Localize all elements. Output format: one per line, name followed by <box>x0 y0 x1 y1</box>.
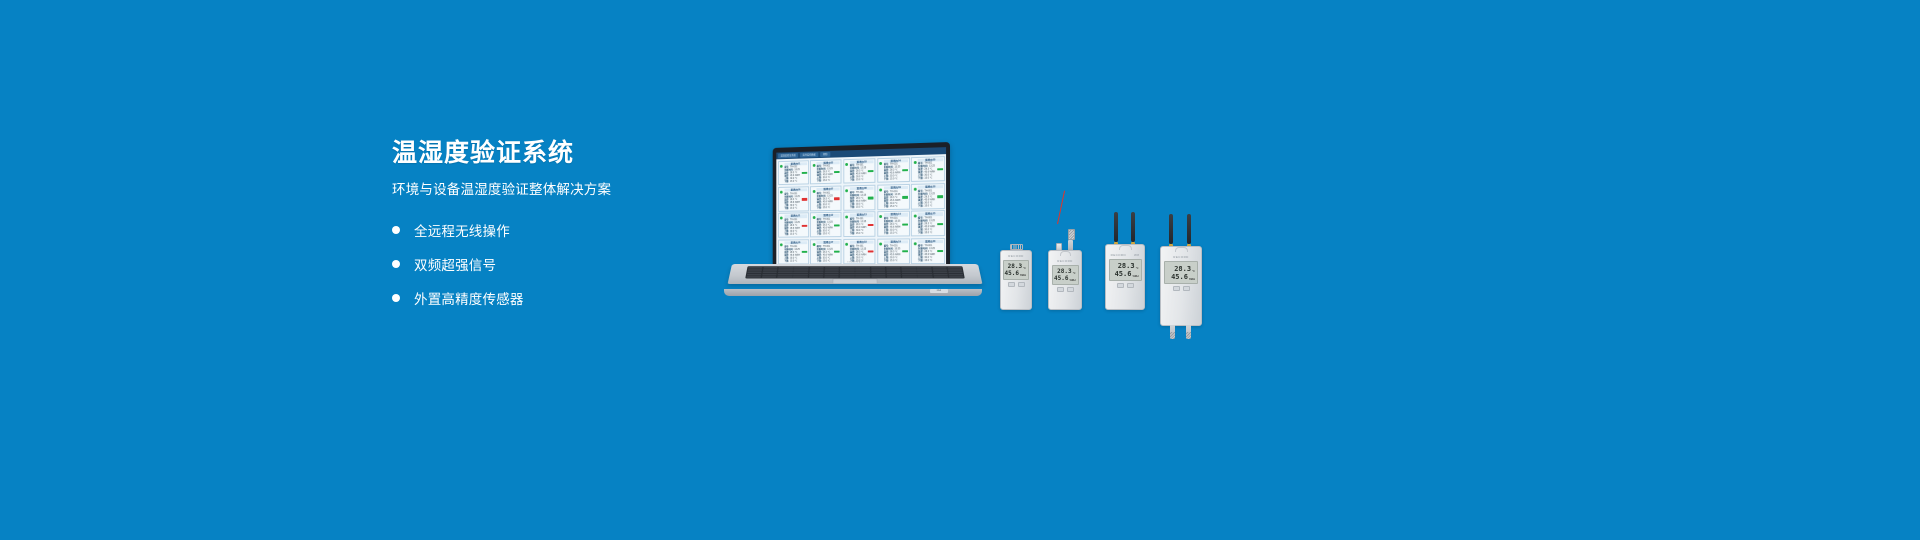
laptop-lid: 温湿度验证系统 实时监控数据 帮助 监测点01编号:TH-001采集时间:13:… <box>773 142 950 274</box>
toolbar-button-monitor[interactable]: 实时监控数据 <box>800 152 818 157</box>
sensor-card-row-value: 15.0 ℃ <box>823 232 840 235</box>
sensor-card-row-key: 下限: <box>784 259 789 262</box>
sensor-card-row: 下限:15.0 ℃ <box>850 205 874 208</box>
device-2-lcd: 28.3 ℃ 45.6 %RH <box>1052 265 1079 285</box>
external-sensor-probe-2 <box>1186 325 1191 339</box>
sensor-card-row-value: 15.0 ℃ <box>856 178 874 181</box>
sensor-card-row: 下限:15.0 ℃ <box>784 233 807 236</box>
device-1-hum-unit: %RH <box>1020 274 1026 277</box>
status-dot-icon <box>914 160 917 163</box>
status-dot-icon <box>780 164 783 167</box>
sensor-card-row: 下限:15.0 ℃ <box>918 231 943 234</box>
sensor-card-row-value: 15.0 ℃ <box>823 179 840 182</box>
sensor-card-row: 下限:15.0 ℃ <box>884 177 908 181</box>
device-3-hum-unit: %RH <box>1132 275 1138 278</box>
device-2-hum-unit: %RH <box>1069 279 1075 282</box>
sensor-card-body: 监测点11编号:TH-001采集时间:13:25温度:28.3 ℃湿度:45.6… <box>784 215 807 236</box>
feature-label: 全远程无线操作 <box>414 220 510 240</box>
device-3-humidity: 45.6 <box>1115 270 1132 278</box>
device-wireless-logger: RECORD W8 28.3 ℃ 45.6 %RH <box>1105 244 1145 310</box>
sensor-card[interactable]: 监测点09编号:TH-001采集时间:13:25温度:28.3 ℃湿度:45.6… <box>877 184 910 210</box>
sensor-card-body: 监测点08编号:TH-001采集时间:13:25温度:28.3 ℃湿度:45.6… <box>850 187 874 209</box>
keyboard-key[interactable] <box>871 276 886 278</box>
sensor-card-body: 监测点07编号:TH-001采集时间:13:25温度:28.3 ℃湿度:45.6… <box>817 187 840 209</box>
sensor-card-row-key: 下限: <box>784 180 789 183</box>
probe-wire <box>1057 191 1065 225</box>
sensor-card-row: 下限:15.0 ℃ <box>784 259 807 262</box>
keyboard-key[interactable] <box>809 276 824 278</box>
hero-copy: 温湿度验证系统 环境与设备温湿度验证整体解决方案 全远程无线操作 双频超强信号 … <box>392 140 722 322</box>
device-2-humidity: 45.6 <box>1054 275 1068 282</box>
status-dot-icon <box>879 242 882 245</box>
keyboard-key[interactable] <box>902 276 917 278</box>
sensor-card[interactable]: 监测点12编号:TH-001采集时间:13:25温度:28.3 ℃湿度:45.6… <box>810 212 842 237</box>
sensor-card[interactable]: 监测点13编号:TH-001采集时间:13:25温度:28.3 ℃湿度:45.6… <box>843 212 875 238</box>
sensor-card-row-value: 15.0 ℃ <box>823 259 840 262</box>
laptop-product-image: 温湿度验证系统 实时监控数据 帮助 监测点01编号:TH-001采集时间:13:… <box>722 142 984 298</box>
sensor-card-body: 监测点09编号:TH-001采集时间:13:25温度:28.3 ℃湿度:45.6… <box>884 186 908 208</box>
sensor-card[interactable]: 监测点02编号:TH-001采集时间:13:25温度:28.3 ℃湿度:45.6… <box>810 159 842 185</box>
device-2-temperature: 28.3 <box>1057 268 1071 275</box>
keyboard-key[interactable] <box>777 276 792 278</box>
sensor-card-row: 下限:15.0 ℃ <box>817 206 840 209</box>
keyboard-key[interactable] <box>918 276 933 278</box>
status-dot-icon <box>812 243 815 246</box>
feature-item-1: 全远程无线操作 <box>392 220 722 240</box>
antenna-icon-3 <box>1169 214 1173 244</box>
page-title: 温湿度验证系统 <box>392 140 722 168</box>
sensor-card-row-value: 15.0 ℃ <box>790 180 807 183</box>
sensor-card-row-value: 15.0 ℃ <box>856 205 874 208</box>
sensor-card-row-key: 下限: <box>850 179 855 182</box>
feature-item-3: 外置高精度传感器 <box>392 288 722 308</box>
keyboard-key[interactable] <box>887 276 902 278</box>
sensor-card-row-value: 15.0 ℃ <box>856 232 874 235</box>
status-dot-icon <box>879 215 882 218</box>
sensor-card[interactable]: 监测点15编号:TH-001采集时间:13:25温度:28.3 ℃湿度:45.6… <box>911 210 944 236</box>
device-3-button-left[interactable] <box>1117 283 1124 288</box>
status-dot-icon <box>780 243 783 246</box>
sensor-card-row-key: 下限: <box>817 180 822 183</box>
sensor-card-body: 监测点19编号:TH-001采集时间:13:25温度:28.3 ℃湿度:45.6… <box>884 240 908 262</box>
sensor-card-body: 监测点06编号:TH-001采集时间:13:25温度:28.3 ℃湿度:45.6… <box>784 188 807 209</box>
sensor-mesh-icon-2 <box>1186 332 1191 339</box>
sensor-card-body: 监测点14编号:TH-001采集时间:13:25温度:28.3 ℃湿度:45.6… <box>884 213 908 235</box>
keyboard-key[interactable] <box>793 276 808 278</box>
laptop-base: HUAWEI intel <box>722 264 984 298</box>
device-4-body: RECORD 28.3 ℃ 45.6 %RH <box>1160 246 1202 326</box>
laptop-keyboard[interactable] <box>745 266 964 278</box>
laptop-front-edge: intel <box>724 289 982 296</box>
sensor-card-row: 下限:15.0 ℃ <box>918 259 943 262</box>
sensor-card[interactable]: 监测点06编号:TH-001采集时间:13:25温度:28.3 ℃湿度:45.6… <box>778 186 809 211</box>
sensor-card-row-key: 下限: <box>817 206 822 209</box>
device-1-temperature: 28.3 <box>1008 263 1022 270</box>
sensor-card[interactable]: 监测点08编号:TH-001采集时间:13:25温度:28.3 ℃湿度:45.6… <box>843 185 875 211</box>
device-4-lcd: 28.3 ℃ 45.6 %RH <box>1164 261 1198 284</box>
status-dot-icon <box>846 243 849 246</box>
sensor-card-row-value: 15.0 ℃ <box>924 177 942 180</box>
sensor-card-body: 监测点20编号:TH-001采集时间:13:25温度:28.3 ℃湿度:45.6… <box>918 240 943 262</box>
sensor-card[interactable]: 监测点11编号:TH-001采集时间:13:25温度:28.3 ℃湿度:45.6… <box>778 213 809 238</box>
sensor-card-body: 监测点01编号:TH-001采集时间:13:25温度:28.3 ℃湿度:45.6… <box>784 162 807 184</box>
hero-banner: 温湿度验证系统 环境与设备温湿度验证整体解决方案 全远程无线操作 双频超强信号 … <box>0 0 1920 540</box>
sensor-card-body: 监测点02编号:TH-001采集时间:13:25温度:28.3 ℃湿度:45.6… <box>817 161 840 183</box>
sensor-card-body: 监测点17编号:TH-001采集时间:13:25温度:28.3 ℃湿度:45.6… <box>817 241 840 262</box>
status-dot-icon <box>812 163 815 166</box>
sensor-card-row: 下限:15.0 ℃ <box>817 259 840 262</box>
status-dot-icon <box>879 188 882 191</box>
device-1-button-left[interactable] <box>1008 282 1015 287</box>
sensor-card[interactable]: 监测点05编号:TH-001采集时间:13:25温度:28.3 ℃湿度:45.6… <box>911 156 944 183</box>
sensor-card-row-value: 15.0 ℃ <box>890 205 908 208</box>
sensor-card-body: 监测点12编号:TH-001采集时间:13:25温度:28.3 ℃湿度:45.6… <box>817 214 840 236</box>
sensor-card-row-value: 15.0 ℃ <box>890 177 908 180</box>
device-3-model: W8 <box>1134 253 1139 257</box>
keyboard-key[interactable] <box>855 276 870 278</box>
sensor-card-row-value: 15.0 ℃ <box>790 233 807 236</box>
sensor-card-row-key: 下限: <box>918 259 923 262</box>
keyboard-row <box>746 276 964 278</box>
device-3-button-right[interactable] <box>1127 283 1134 288</box>
bullet-dot-icon <box>392 226 400 234</box>
device-4-button-left[interactable] <box>1173 286 1180 291</box>
hanging-hook-icon <box>1175 247 1188 252</box>
feature-list: 全远程无线操作 双频超强信号 外置高精度传感器 <box>392 220 722 308</box>
status-dot-icon <box>812 216 815 219</box>
bullet-dot-icon <box>392 294 400 302</box>
keyboard-key[interactable] <box>933 276 948 278</box>
antenna-icon-4 <box>1187 214 1191 244</box>
sensor-card[interactable]: 监测点10编号:TH-001采集时间:13:25温度:28.3 ℃湿度:45.6… <box>911 183 944 209</box>
sensor-card-row-key: 下限: <box>884 205 889 208</box>
sensor-card-row-value: 15.0 ℃ <box>890 259 908 262</box>
device-probe-logger: RECORD 28.3 ℃ 45.6 %RH <box>1048 250 1082 310</box>
device-2-body: RECORD 28.3 ℃ 45.6 %RH <box>1048 250 1082 310</box>
device-4-brand: RECORD <box>1173 255 1188 259</box>
page-subtitle: 环境与设备温湿度验证整体解决方案 <box>392 182 722 198</box>
status-dot-icon <box>812 190 815 193</box>
device-1-buttons[interactable] <box>1008 282 1025 287</box>
status-dot-icon <box>914 188 917 191</box>
sensor-mesh-icon-1 <box>1170 332 1175 339</box>
device-compact-logger: RECORD 28.3 ℃ 45.6 %RH <box>1000 244 1032 310</box>
sensor-card-row: 下限:15.0 ℃ <box>850 178 874 182</box>
sensor-card-row: 下限:15.0 ℃ <box>817 179 840 182</box>
sensor-card-row-key: 下限: <box>884 178 889 181</box>
sensor-card[interactable]: 监测点01编号:TH-001采集时间:13:25温度:28.3 ℃湿度:45.6… <box>778 160 809 186</box>
sensor-card-body: 监测点03编号:TH-001采集时间:13:25温度:28.3 ℃湿度:45.6… <box>850 160 874 182</box>
device-1-lcd: 28.3 ℃ 45.6 %RH <box>1003 260 1029 280</box>
sensor-card-grid: 监测点01编号:TH-001采集时间:13:25温度:28.3 ℃湿度:45.6… <box>776 154 946 265</box>
sensor-card-row-key: 下限: <box>918 232 923 235</box>
device-4-button-right[interactable] <box>1183 286 1190 291</box>
sensor-card-row-key: 下限: <box>817 259 822 262</box>
bullet-dot-icon <box>392 260 400 268</box>
laptop-sticker: intel <box>930 289 948 293</box>
sensor-card-row: 下限:15.0 ℃ <box>817 232 840 235</box>
keyboard-key[interactable] <box>824 276 839 278</box>
sensor-card[interactable]: 监测点17编号:TH-001采集时间:13:25温度:28.3 ℃湿度:45.6… <box>810 239 842 264</box>
status-dot-icon <box>846 216 849 219</box>
sensor-card-row-value: 15.0 ℃ <box>790 206 807 209</box>
sensor-card-body: 监测点16编号:TH-001采集时间:13:25温度:28.3 ℃湿度:45.6… <box>784 241 807 262</box>
sensor-card-row-key: 下限: <box>884 259 889 262</box>
sensor-card[interactable]: 监测点03编号:TH-001采集时间:13:25温度:28.3 ℃湿度:45.6… <box>843 158 875 184</box>
status-dot-icon <box>879 161 882 164</box>
keyboard-key[interactable] <box>840 276 855 278</box>
toolbar-button-help[interactable]: 帮助 <box>820 152 830 157</box>
device-3-body: RECORD W8 28.3 ℃ 45.6 %RH <box>1105 244 1145 310</box>
sensor-card-row: 下限:15.0 ℃ <box>884 259 908 262</box>
sensor-card-row: 下限:15.0 ℃ <box>850 232 874 235</box>
sensor-card[interactable]: 监测点16编号:TH-001采集时间:13:25温度:28.3 ℃湿度:45.6… <box>778 239 809 264</box>
sensor-card-row-key: 下限: <box>850 206 855 209</box>
feature-label: 双频超强信号 <box>414 254 496 274</box>
device-3-lcd: 28.3 ℃ 45.6 %RH <box>1109 259 1142 281</box>
sensor-card-row-value: 15.0 ℃ <box>890 232 908 235</box>
sensor-card-row: 下限:15.0 ℃ <box>784 180 807 183</box>
sensor-card-row-key: 下限: <box>884 232 889 235</box>
status-dot-icon <box>780 217 783 220</box>
device-4-buttons[interactable] <box>1173 286 1190 291</box>
hanging-hook-icon <box>1060 251 1071 256</box>
sensor-card-row-value: 15.0 ℃ <box>790 259 807 262</box>
sensor-card-row: 下限:15.0 ℃ <box>884 205 908 208</box>
status-dot-icon <box>914 215 917 218</box>
sensor-card[interactable]: 监测点14编号:TH-001采集时间:13:25温度:28.3 ℃湿度:45.6… <box>877 211 910 237</box>
status-dot-icon <box>914 242 917 245</box>
external-sensor-probe-1 <box>1170 325 1175 339</box>
device-2-brand: RECORD <box>1057 259 1072 263</box>
feature-item-2: 双频超强信号 <box>392 254 722 274</box>
keyboard-key[interactable] <box>949 276 964 278</box>
device-1-button-right[interactable] <box>1018 282 1025 287</box>
laptop-brand-label: HUAWEI <box>848 260 863 263</box>
sensor-card-body: 监测点05编号:TH-001采集时间:13:25温度:28.3 ℃湿度:45.6… <box>918 158 943 180</box>
sensor-card-row-value: 15.0 ℃ <box>823 206 840 209</box>
status-dot-icon <box>846 162 849 165</box>
keyboard-key[interactable] <box>762 276 777 278</box>
sensor-card-row: 下限:15.0 ℃ <box>918 177 943 181</box>
sensor-card-row-value: 15.0 ℃ <box>924 259 942 262</box>
sensor-card-body: 监测点04编号:TH-001采集时间:13:25温度:28.3 ℃湿度:45.6… <box>884 159 908 181</box>
toolbar-button-system[interactable]: 温湿度验证系统 <box>778 153 798 158</box>
device-3-temperature: 28.3 <box>1118 262 1135 270</box>
sensor-card[interactable]: 监测点19编号:TH-001采集时间:13:25温度:28.3 ℃湿度:45.6… <box>877 238 910 264</box>
sensor-card-row-key: 下限: <box>850 232 855 235</box>
status-dot-icon <box>780 191 783 194</box>
sensor-device-group: RECORD 28.3 ℃ 45.6 %RH <box>1000 180 1230 310</box>
sensor-card-body: 监测点10编号:TH-001采集时间:13:25温度:28.3 ℃湿度:45.6… <box>918 185 943 207</box>
sensor-card-row-key: 下限: <box>918 204 923 207</box>
device-3-buttons[interactable] <box>1117 283 1134 288</box>
feature-label: 外置高精度传感器 <box>414 288 524 308</box>
device-wireless-probe-logger: RECORD 28.3 ℃ 45.6 %RH <box>1160 246 1202 326</box>
laptop-deck: HUAWEI <box>728 264 983 284</box>
sensor-card[interactable]: 监测点04编号:TH-001采集时间:13:25温度:28.3 ℃湿度:45.6… <box>877 157 910 183</box>
laptop-trackpad[interactable] <box>832 278 878 284</box>
sensor-card-row-value: 15.0 ℃ <box>924 204 942 207</box>
device-1-humidity: 45.6 <box>1004 270 1018 277</box>
sensor-card[interactable]: 监测点07编号:TH-001采集时间:13:25温度:28.3 ℃湿度:45.6… <box>810 185 842 211</box>
device-1-brand: RECORD <box>1008 254 1023 258</box>
probe-sensor-tip-icon <box>1068 229 1075 240</box>
laptop-screen: 温湿度验证系统 实时监控数据 帮助 监测点01编号:TH-001采集时间:13:… <box>776 147 946 269</box>
sensor-card-row-value: 15.0 ℃ <box>924 231 942 234</box>
sensor-card-row-key: 下限: <box>817 233 822 236</box>
sensor-card-row: 下限:15.0 ℃ <box>918 204 943 207</box>
sensor-card-row-key: 下限: <box>918 177 923 180</box>
device-4-temperature: 28.3 <box>1174 265 1191 273</box>
device-1-body: RECORD 28.3 ℃ 45.6 %RH <box>1000 250 1032 310</box>
device-3-brand: RECORD <box>1111 253 1126 257</box>
device-2-button-right[interactable] <box>1067 287 1074 292</box>
device-2-button-left[interactable] <box>1057 287 1064 292</box>
device-4-hum-unit: %RH <box>1189 278 1195 281</box>
sensor-card[interactable]: 监测点20编号:TH-001采集时间:13:25温度:28.3 ℃湿度:45.6… <box>911 238 944 264</box>
sensor-card-body: 监测点15编号:TH-001采集时间:13:25温度:28.3 ℃湿度:45.6… <box>918 212 943 234</box>
antenna-icon-1 <box>1114 212 1118 242</box>
sensor-card-row: 下限:15.0 ℃ <box>884 232 908 235</box>
antenna-icon-2 <box>1131 212 1135 242</box>
sensor-card-row-key: 下限: <box>784 233 789 236</box>
keyboard-key[interactable] <box>746 276 761 278</box>
status-dot-icon <box>846 189 849 192</box>
sensor-card-body: 监测点18编号:TH-001采集时间:13:25温度:28.3 ℃湿度:45.6… <box>850 240 874 262</box>
sensor-card-row-key: 下限: <box>784 207 789 210</box>
sensor-card-body: 监测点13编号:TH-001采集时间:13:25温度:28.3 ℃湿度:45.6… <box>850 214 874 236</box>
device-4-humidity: 45.6 <box>1171 273 1188 281</box>
device-2-buttons[interactable] <box>1057 287 1074 292</box>
sensor-card-row: 下限:15.0 ℃ <box>784 206 807 209</box>
